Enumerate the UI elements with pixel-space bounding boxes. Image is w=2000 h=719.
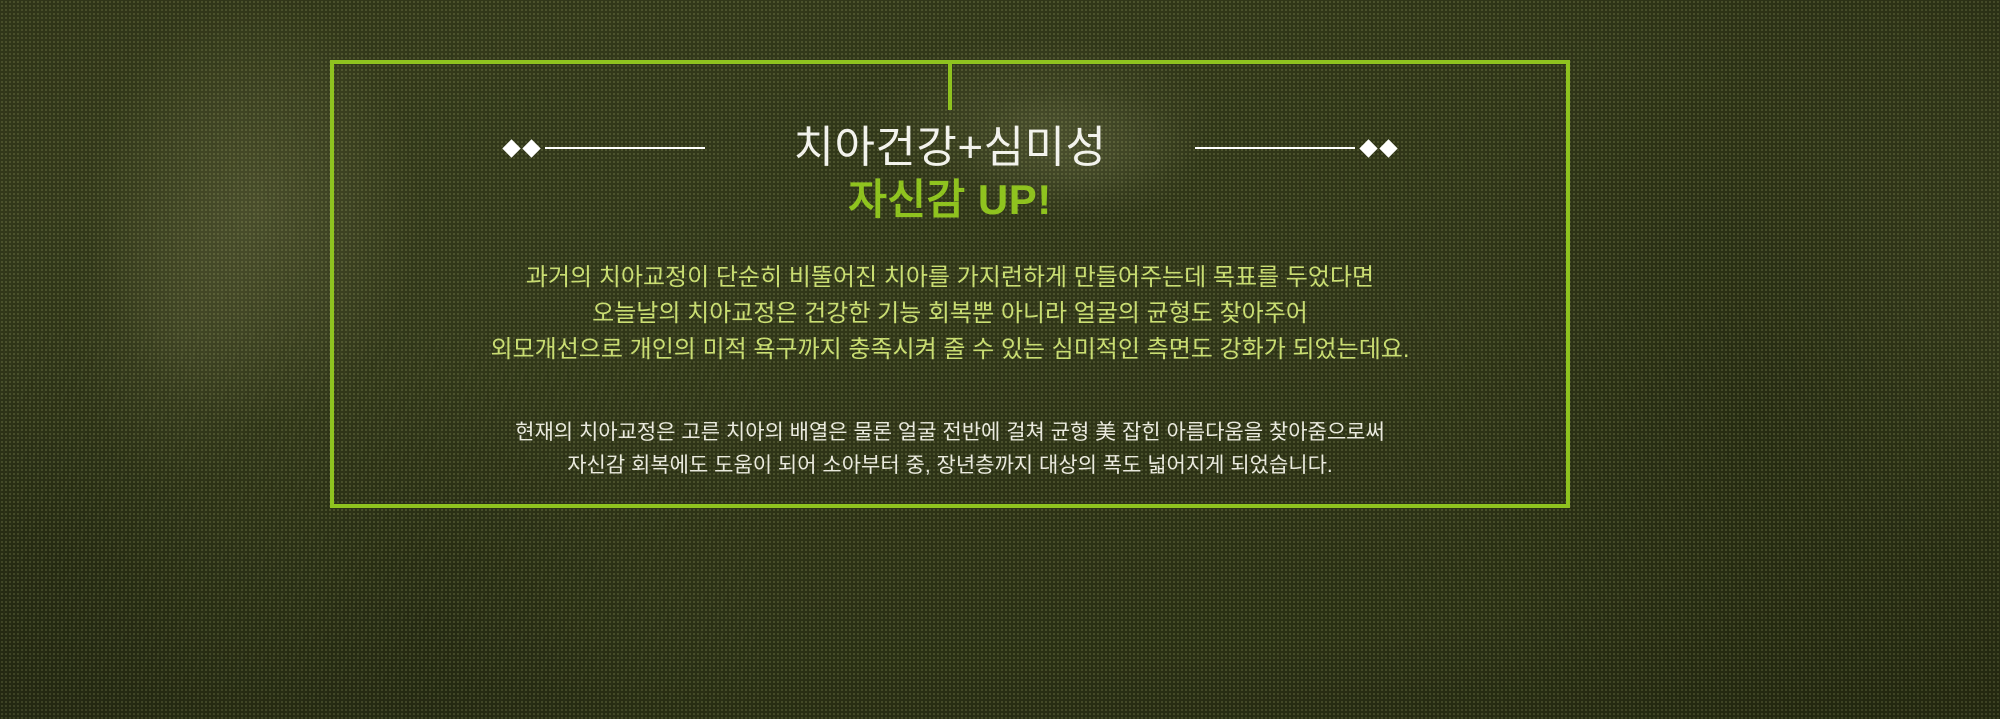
frame-top-tick [948, 62, 952, 110]
copy-line: 외모개선으로 개인의 미적 욕구까지 충족시켜 줄 수 있는 심미적인 측면도 … [334, 332, 1566, 368]
paragraph-white: 현재의 치아교정은 고른 치아의 배열은 물론 얼굴 전반에 걸쳐 균형 美 잡… [334, 416, 1566, 482]
banner-copy: 과거의 치아교정이 단순히 비뚤어진 치아를 가지런하게 만들어주는데 목표를 … [334, 260, 1566, 482]
diamond-icon [1359, 139, 1377, 157]
copy-line: 현재의 치아교정은 고른 치아의 배열은 물론 얼굴 전반에 걸쳐 균형 美 잡… [334, 416, 1566, 449]
promo-banner: 치아건강+심미성 자신감 UP! 과거의 치아교정이 단순히 비뚤어진 치아를 … [0, 0, 2000, 719]
rule-line [545, 147, 705, 149]
diamond-rule-right-icon [1195, 142, 1395, 155]
rule-line [1195, 147, 1355, 149]
heading-row: 치아건강+심미성 [334, 126, 1566, 170]
copy-line: 오늘날의 치아교정은 건강한 기능 회복뿐 아니라 얼굴의 균형도 찾아주어 [334, 296, 1566, 332]
diamond-icon [1379, 139, 1397, 157]
diamond-rule-left-icon [505, 142, 705, 155]
banner-subtitle: 자신감 UP! [334, 179, 1566, 221]
content-frame: 치아건강+심미성 자신감 UP! 과거의 치아교정이 단순히 비뚤어진 치아를 … [330, 60, 1570, 508]
copy-line: 과거의 치아교정이 단순히 비뚤어진 치아를 가지런하게 만들어주는데 목표를 … [334, 260, 1566, 296]
banner-title: 치아건강+심미성 [793, 126, 1106, 170]
diamond-icon [503, 139, 521, 157]
paragraph-accent: 과거의 치아교정이 단순히 비뚤어진 치아를 가지런하게 만들어주는데 목표를 … [334, 260, 1566, 368]
copy-line: 자신감 회복에도 도움이 되어 소아부터 중, 장년층까지 대상의 폭도 넓어지… [334, 449, 1566, 482]
diamond-icon [523, 139, 541, 157]
